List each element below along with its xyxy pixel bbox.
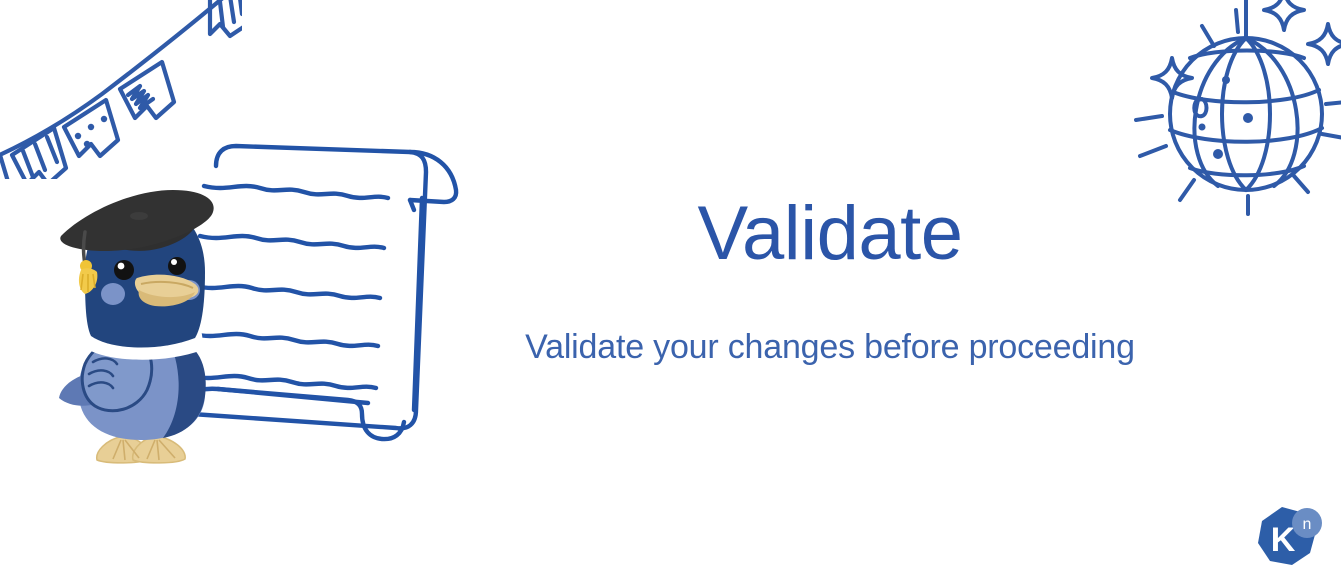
party-bunting-icon	[0, 0, 242, 179]
logo-letter-k: K	[1271, 521, 1296, 559]
hero-text-block: Validate Validate your changes before pr…	[330, 196, 1330, 364]
page-subtitle: Validate your changes before proceeding	[330, 330, 1330, 364]
brand-logo: K n	[1252, 503, 1324, 575]
page-title: Validate	[330, 196, 1330, 272]
slide-canvas: Validate Validate your changes before pr…	[0, 0, 1341, 585]
graduate-bird-mascot-icon	[55, 186, 235, 471]
logo-badge-letter-n: n	[1303, 516, 1312, 533]
